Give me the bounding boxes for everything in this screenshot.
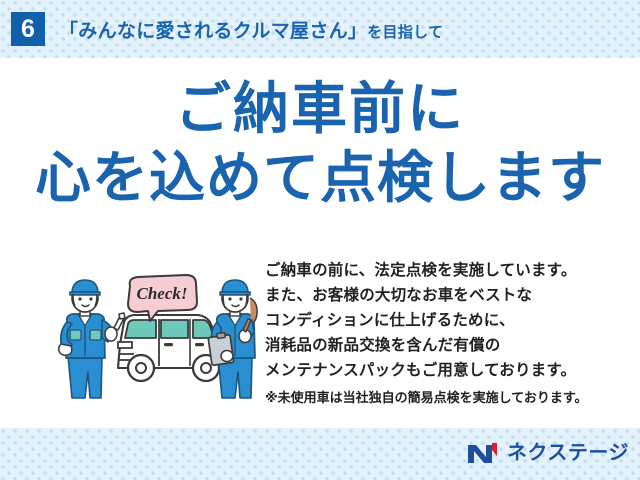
body-line-3: コンディションに仕上げるために、 [265, 308, 625, 333]
male-mechanic [59, 280, 125, 398]
headline-line-2: 心を込めて点検します [0, 147, 640, 210]
brand-logo: ネクステージ [466, 440, 629, 466]
body-line-1: ご納車の前に、法定点検を実施しています。 [265, 258, 625, 283]
body-line-4: 消耗品の新品交換を含んだ有償の [265, 333, 625, 358]
body-note: ※未使用車は当社独自の簡易点検を実施しております。 [265, 387, 625, 408]
nextage-n-logo-icon [466, 441, 500, 465]
speech-bubble-text: Check! [137, 284, 188, 303]
body-line-5: メンテナンスパックもご用意しております。 [265, 358, 625, 383]
headline: ご納車前に 心を込めて点検します [0, 78, 640, 209]
advertisement-page: 6 「みんなに愛されるクルマ屋さん」を目指して ご納車前に 心を込めて点検します [0, 0, 640, 480]
mechanics-illustration: Check! [58, 272, 263, 402]
body-copy: ご納車の前に、法定点検を実施しています。 また、お客様の大切なお車をベストな コ… [265, 258, 625, 408]
step-number-badge: 6 [11, 12, 45, 46]
header-title-quoted: 「みんなに愛されるクルマ屋さん」 [59, 21, 367, 42]
brand-name: ネクステージ [507, 443, 629, 463]
header-content: 6 「みんなに愛されるクルマ屋さん」を目指して [0, 0, 640, 58]
body-line-2: また、お客様の大切なお車をベストな [265, 283, 625, 308]
van-illustration [118, 315, 220, 381]
header-title: 「みんなに愛されるクルマ屋さん」を目指して [59, 16, 443, 43]
female-mechanic [208, 280, 257, 398]
header-title-suffix: を目指して [367, 24, 443, 41]
headline-line-1: ご納車前に [0, 78, 640, 141]
